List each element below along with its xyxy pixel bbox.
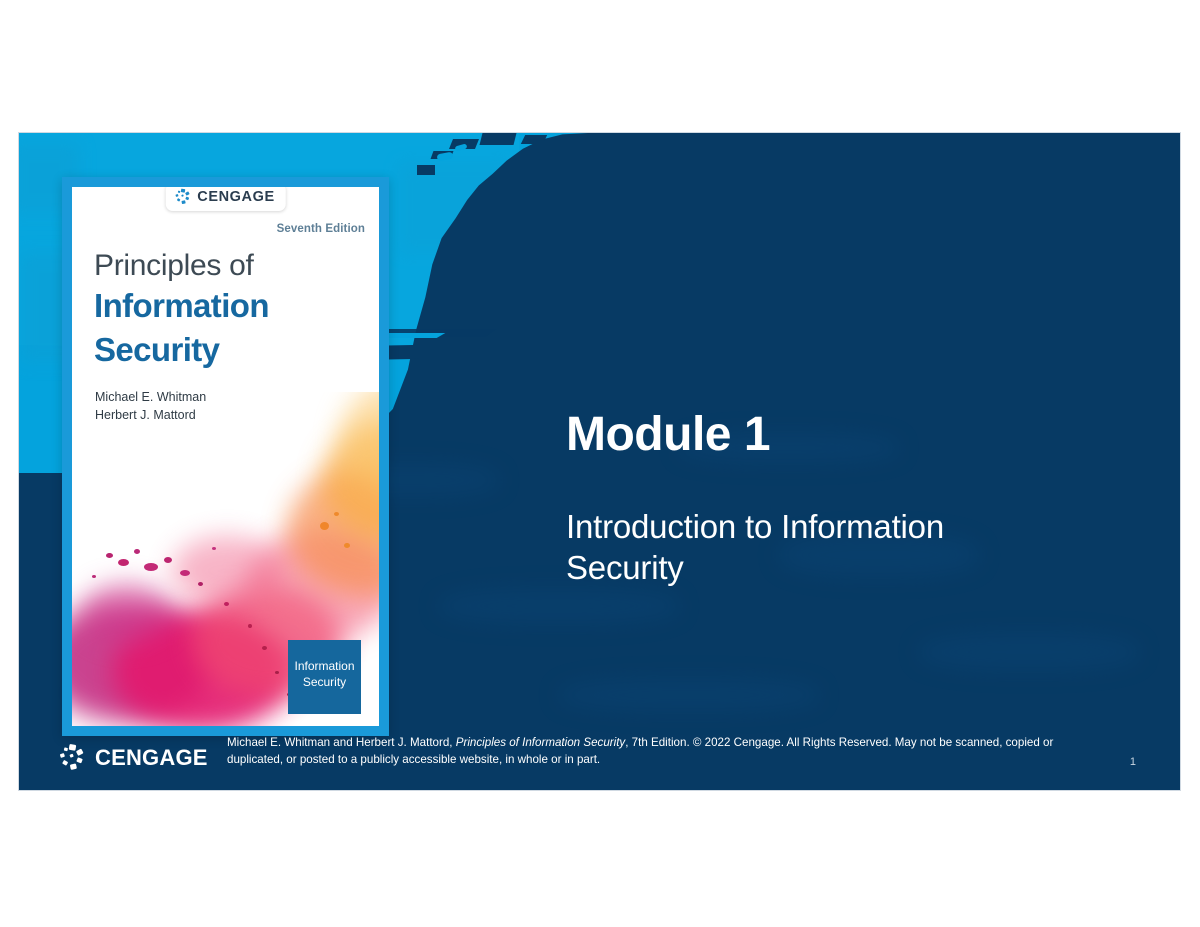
powder-speck <box>106 553 113 558</box>
slide-subtitle: Introduction to Information Security <box>566 506 1066 588</box>
slide-page: CENGAGE Seventh Edition Principles of In… <box>0 0 1200 927</box>
powder-speck <box>118 559 129 566</box>
book-author-line1: Michael E. Whitman <box>95 388 206 406</box>
navy-texture-blotch <box>559 678 819 712</box>
powder-speck <box>224 602 229 606</box>
cengage-mark-icon <box>57 743 87 773</box>
book-edition-label: Seventh Edition <box>277 223 365 235</box>
powder-speck <box>164 557 172 563</box>
book-spine-label: Information Security <box>288 640 361 714</box>
book-title-line3: Security <box>94 327 219 372</box>
book-publisher-name: CENGAGE <box>197 189 275 205</box>
book-spine-label-line2: Security <box>288 674 361 690</box>
powder-speck <box>212 547 216 550</box>
copyright-text-part1: Michael E. Whitman and Herbert J. Mattor… <box>227 736 456 749</box>
book-publisher-badge: CENGAGE <box>165 187 286 211</box>
powder-speck <box>275 671 279 674</box>
powder-speck <box>320 522 329 530</box>
powder-speck <box>92 575 96 578</box>
cengage-mark-icon <box>173 188 191 206</box>
silhouette-spike <box>417 165 435 175</box>
powder-speck <box>198 582 203 586</box>
book-author-line2: Herbert J. Mattord <box>95 406 196 424</box>
powder-speck <box>334 512 339 516</box>
book-title-line2: Information <box>94 283 269 328</box>
slide-page-number: 1 <box>1130 756 1136 768</box>
navy-texture-blotch <box>919 633 1139 671</box>
powder-speck <box>180 570 190 576</box>
slide-title: Module 1 <box>566 407 770 463</box>
powder-speck <box>262 646 267 650</box>
footer-copyright-notice: Michael E. Whitman and Herbert J. Mattor… <box>227 735 1077 768</box>
powder-blob-violet <box>82 582 172 642</box>
powder-speck <box>248 624 252 628</box>
powder-speck <box>134 549 140 554</box>
silhouette-spike <box>480 133 517 145</box>
navy-texture-blotch <box>439 588 679 624</box>
book-title-line1: Principles of <box>94 249 254 283</box>
copyright-book-title: Principles of Information Security <box>456 736 625 749</box>
footer-cengage-logo: CENGAGE <box>57 743 208 773</box>
footer-logo-text: CENGAGE <box>95 745 208 771</box>
book-cover-image: CENGAGE Seventh Edition Principles of In… <box>62 177 389 736</box>
book-spine-label-line1: Information <box>288 658 361 674</box>
powder-speck <box>344 543 350 548</box>
silhouette-spike <box>521 135 547 144</box>
presentation-slide: CENGAGE Seventh Edition Principles of In… <box>19 133 1180 790</box>
book-cover-inner: CENGAGE Seventh Edition Principles of In… <box>72 187 379 726</box>
powder-speck <box>144 563 158 571</box>
